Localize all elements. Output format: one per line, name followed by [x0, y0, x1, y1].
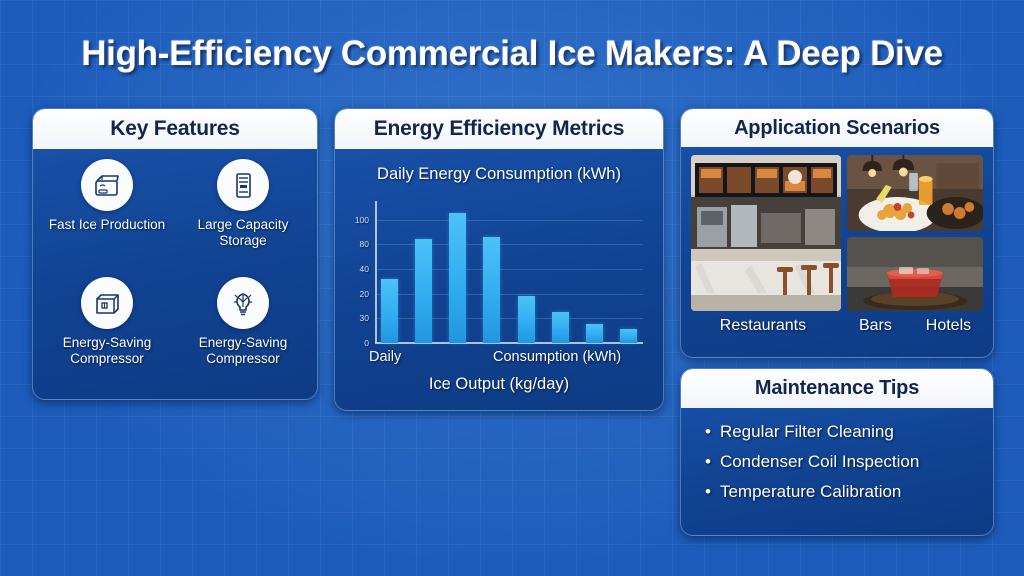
photo-label-hotels: Hotels [914, 317, 983, 335]
bar[interactable] [449, 213, 466, 343]
maintenance-tip-item: •Condenser Coil Inspection [705, 452, 993, 472]
y-axis-tick-label: 20 [360, 289, 369, 299]
feature-energy-saving-compressor-b[interactable]: Energy-Saving Compressor [175, 277, 311, 395]
application-scenarios-heading: Application Scenarios [681, 109, 993, 147]
photo-label-restaurants: Restaurants [691, 317, 835, 335]
bar-chart: Daily Energy Consumption (kWh) 100804020… [335, 149, 663, 411]
bar-series [375, 201, 643, 343]
feature-label: Energy-Saving Compressor [43, 335, 171, 367]
maintenance-tip-label: Condenser Coil Inspection [720, 452, 919, 472]
energy-metrics-heading: Energy Efficiency Metrics [335, 109, 663, 149]
bar[interactable] [381, 279, 398, 343]
cocktail-photo[interactable] [847, 237, 983, 311]
key-features-heading: Key Features [33, 109, 317, 149]
bar[interactable] [415, 239, 432, 343]
feature-label: Energy-Saving Compressor [179, 335, 307, 367]
bar[interactable] [518, 296, 535, 343]
page-title: High-Efficiency Commercial Ice Makers: A… [0, 34, 1024, 74]
feature-label: Large Capacity Storage [179, 217, 307, 249]
bar[interactable] [483, 237, 500, 343]
maintenance-tip-item: •Temperature Calibration [705, 482, 993, 502]
x-axis-title: Ice Output (kg/day) [335, 375, 663, 394]
key-features-panel: Key Features Fast Ice Production [32, 108, 318, 400]
feature-label: Fast Ice Production [49, 217, 165, 233]
maintenance-tips-panel: Maintenance Tips •Regular Filter Cleanin… [680, 368, 994, 536]
y-axis-tick-label: 40 [360, 264, 369, 274]
application-scenarios-panel: Application Scenarios [680, 108, 994, 358]
storage-cabinet-icon [217, 159, 269, 211]
bullet-icon: • [705, 453, 711, 470]
application-scenarios-body: Restaurants Bars Hotels [681, 147, 993, 358]
chart-plot-area: 100804020300 [375, 201, 643, 343]
feature-fast-ice-production[interactable]: Fast Ice Production [39, 159, 175, 277]
x-axis-tick-label: Daily [369, 349, 401, 365]
y-axis-tick-label: 0 [364, 338, 369, 348]
bar[interactable] [552, 312, 569, 343]
photo-label-bars: Bars [841, 317, 910, 335]
y-axis-tick-label: 100 [355, 215, 369, 225]
bullet-icon: • [705, 423, 711, 440]
plated-food-photo[interactable] [847, 155, 983, 231]
compressor-box-icon [81, 277, 133, 329]
key-features-body: Fast Ice Production Large Capacity Stora… [33, 149, 317, 400]
application-labels: Restaurants Bars Hotels [691, 317, 983, 335]
y-axis-tick-label: 30 [360, 313, 369, 323]
infographic-page: High-Efficiency Commercial Ice Makers: A… [0, 0, 1024, 576]
maintenance-tip-label: Regular Filter Cleaning [720, 422, 894, 442]
features-grid: Fast Ice Production Large Capacity Stora… [33, 149, 317, 400]
gridline [375, 343, 643, 344]
energy-metrics-panel: Energy Efficiency Metrics Daily Energy C… [334, 108, 664, 411]
ice-machine-icon [81, 159, 133, 211]
bar[interactable] [586, 324, 603, 343]
energy-bulb-icon [217, 277, 269, 329]
maintenance-tips-body: •Regular Filter Cleaning•Condenser Coil … [681, 408, 993, 502]
y-axis-tick-label: 80 [360, 239, 369, 249]
feature-large-capacity-storage[interactable]: Large Capacity Storage [175, 159, 311, 277]
maintenance-tip-item: •Regular Filter Cleaning [705, 422, 993, 442]
maintenance-tips-heading: Maintenance Tips [681, 369, 993, 408]
x-axis-tick-label: Consumption (kWh) [493, 349, 621, 365]
bullet-icon: • [705, 483, 711, 500]
feature-energy-saving-compressor-a[interactable]: Energy-Saving Compressor [39, 277, 175, 395]
restaurant-counter-photo[interactable] [691, 155, 841, 311]
photo-grid [691, 155, 983, 311]
chart-title: Daily Energy Consumption (kWh) [335, 165, 663, 184]
maintenance-tip-label: Temperature Calibration [720, 482, 901, 502]
bar[interactable] [620, 329, 637, 343]
